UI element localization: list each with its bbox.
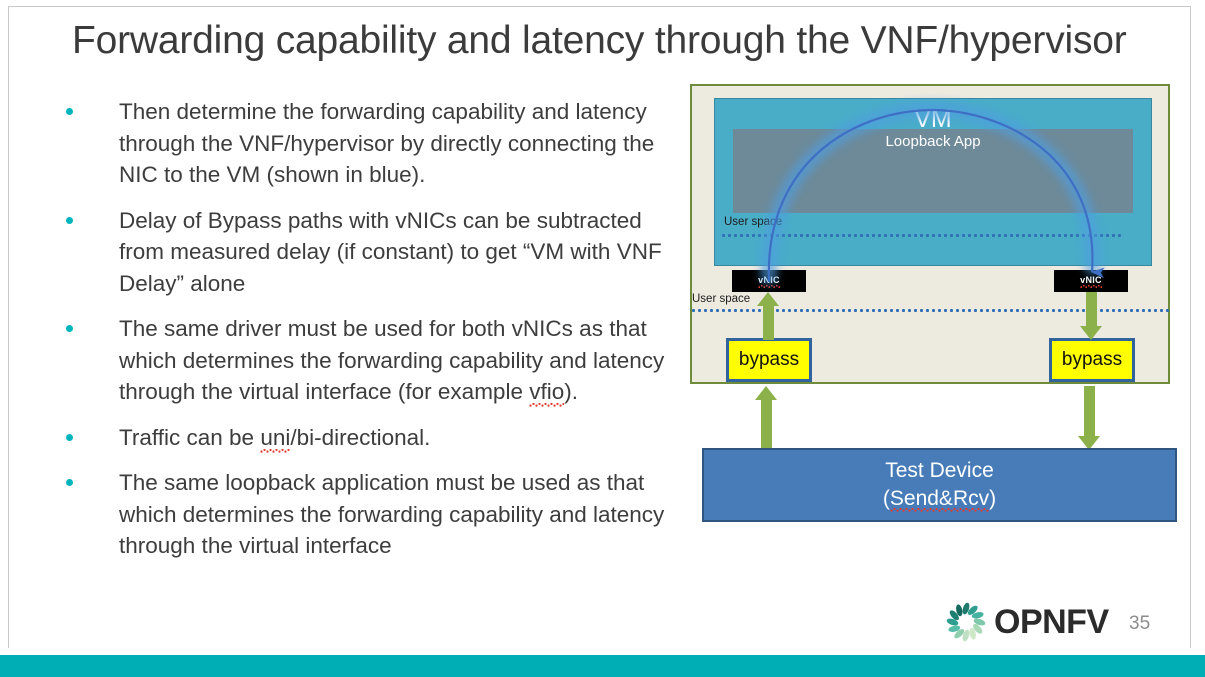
bullet-list: Then determine the forwarding capability… (66, 96, 666, 576)
test-device-line2: (Send&Rcv) (883, 485, 996, 513)
bullet-text-2: Delay of Bypass paths with vNICs can be … (119, 205, 666, 300)
vnic-label-left: vNIC (758, 275, 780, 288)
bullet-dot-icon (66, 217, 73, 224)
bypass-label-left: bypass (739, 349, 799, 371)
opnfv-wordmark: OPNFV (994, 605, 1109, 639)
bullet-text-5: The same loopback application must be us… (119, 467, 666, 562)
test-device-line1: Test Device (885, 457, 994, 485)
architecture-diagram: VM Loopback App User space User space vN… (690, 84, 1170, 384)
opnfv-logo: OPNFV (944, 600, 1109, 644)
bullet-text-4: Traffic can be uni/bi-directional. (119, 422, 666, 454)
bullet-item-5: The same loopback application must be us… (66, 467, 666, 562)
test-device-box: Test Device (Send&Rcv) (702, 448, 1177, 522)
traffic-arrow-shaft-right-out (1086, 292, 1097, 326)
bypass-box-left: bypass (726, 338, 812, 382)
vm-box: VM Loopback App (714, 98, 1152, 266)
vnic-box-right: vNIC (1054, 270, 1128, 292)
bullet-text-3: The same driver must be used for both vN… (119, 313, 666, 408)
traffic-arrow-shaft-device-to-bypass-left (761, 398, 772, 450)
traffic-arrow-head-device-to-bypass-left (755, 386, 777, 400)
bullet-dot-icon (66, 108, 73, 115)
bottom-accent-bar (0, 655, 1205, 677)
slide-frame-left (8, 6, 9, 648)
slide-title: Forwarding capability and latency throug… (72, 18, 1182, 64)
loopback-app-label: Loopback App (715, 133, 1151, 151)
bypass-label-right: bypass (1062, 349, 1122, 371)
bullet-dot-icon (66, 434, 73, 441)
bypass-box-right: bypass (1049, 338, 1135, 382)
spellcheck-word: vfio (529, 379, 564, 408)
opnfv-pinwheel-icon (944, 600, 988, 644)
bullet-dot-icon (66, 479, 73, 486)
spellcheck-word: uni (260, 425, 290, 454)
traffic-arrow-head-right-out (1080, 326, 1102, 340)
traffic-arrow-shaft-bypass-to-device-right (1084, 386, 1095, 436)
bullet-text-1: Then determine the forwarding capability… (119, 96, 666, 191)
slide-frame-top (8, 6, 1191, 7)
bullet-item-1: Then determine the forwarding capability… (66, 96, 666, 191)
host-boundary-box: VM Loopback App User space User space vN… (690, 84, 1170, 384)
bullet-dot-icon (66, 325, 73, 332)
traffic-arrow-shaft-left-in (763, 304, 774, 340)
bullet-item-2: Delay of Bypass paths with vNICs can be … (66, 205, 666, 300)
vnic-label-right: vNIC (1080, 275, 1102, 288)
user-space-label-inner: User space (724, 216, 782, 229)
traffic-arrow-head-left-in (757, 292, 779, 306)
bullet-item-4: Traffic can be uni/bi-directional. (66, 422, 666, 454)
user-space-label-outer: User space (692, 293, 750, 306)
kernel-boundary-dotted-line-inner (722, 234, 1122, 237)
slide-canvas: Forwarding capability and latency throug… (0, 0, 1205, 677)
page-number: 35 (1129, 613, 1150, 635)
spellcheck-word: Send&Rcv (890, 487, 989, 513)
bullet-item-3: The same driver must be used for both vN… (66, 313, 666, 408)
slide-frame-right (1190, 6, 1191, 648)
vnic-box-left: vNIC (732, 270, 806, 292)
